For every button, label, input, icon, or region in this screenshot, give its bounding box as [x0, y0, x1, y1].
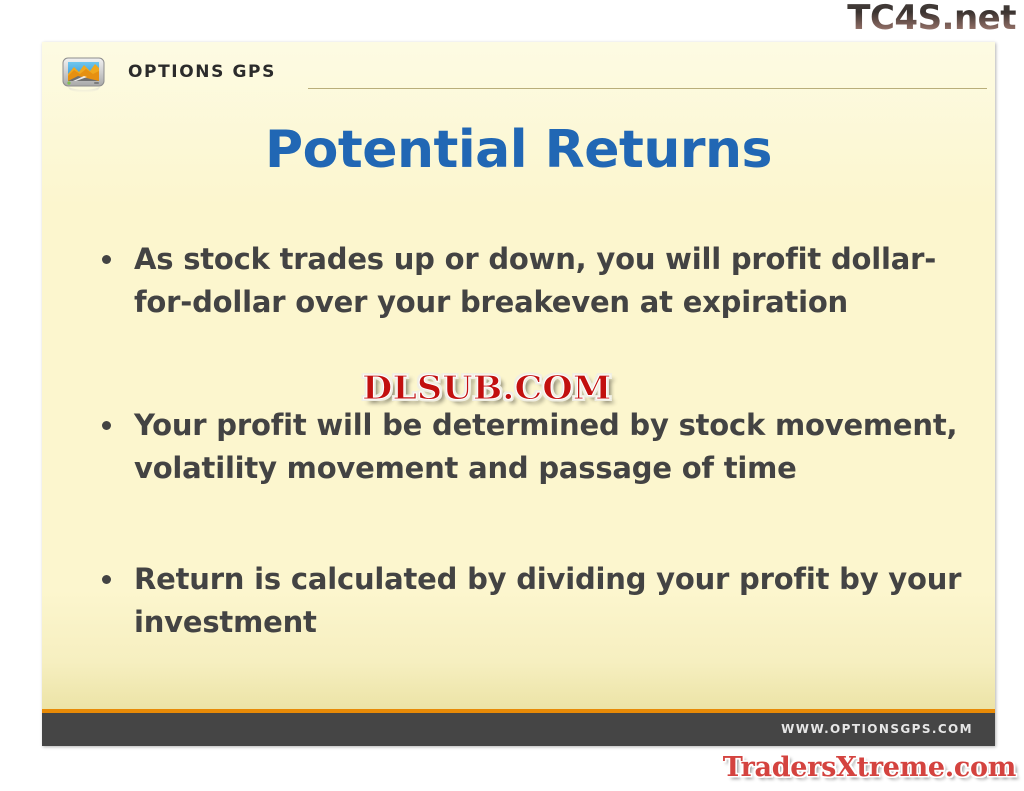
overlay-watermark-center: DLSUB.COM: [362, 368, 611, 407]
list-item: As stock trades up or down, you will pro…: [94, 238, 965, 324]
page-title: Potential Returns: [42, 120, 995, 180]
list-item-text: As stock trades up or down, you will pro…: [134, 242, 936, 319]
gps-device-icon: [60, 54, 108, 98]
site-watermark-top: TC4S.net: [847, 0, 1016, 38]
presentation-slide: Options GPS Potential Returns As stock t…: [42, 42, 995, 746]
list-item: Return is calculated by dividing your pr…: [94, 558, 965, 644]
list-item-text: Return is calculated by dividing your pr…: [134, 562, 961, 639]
slide-footer: www.OptionsGPS.com: [42, 713, 995, 746]
slide-header: Options GPS: [60, 54, 995, 102]
bullet-dot-icon: [102, 575, 111, 584]
bullet-list: As stock trades up or down, you will pro…: [94, 238, 965, 644]
bullet-dot-icon: [102, 421, 111, 430]
brand-label: Options GPS: [128, 62, 276, 82]
site-watermark-bottom: TradersXtreme.com: [723, 752, 1016, 783]
list-item: Your profit will be determined by stock …: [94, 404, 965, 490]
footer-url: www.OptionsGPS.com: [781, 722, 973, 736]
header-divider: [308, 88, 987, 89]
bullet-dot-icon: [102, 255, 111, 264]
list-item-text: Your profit will be determined by stock …: [134, 408, 957, 485]
